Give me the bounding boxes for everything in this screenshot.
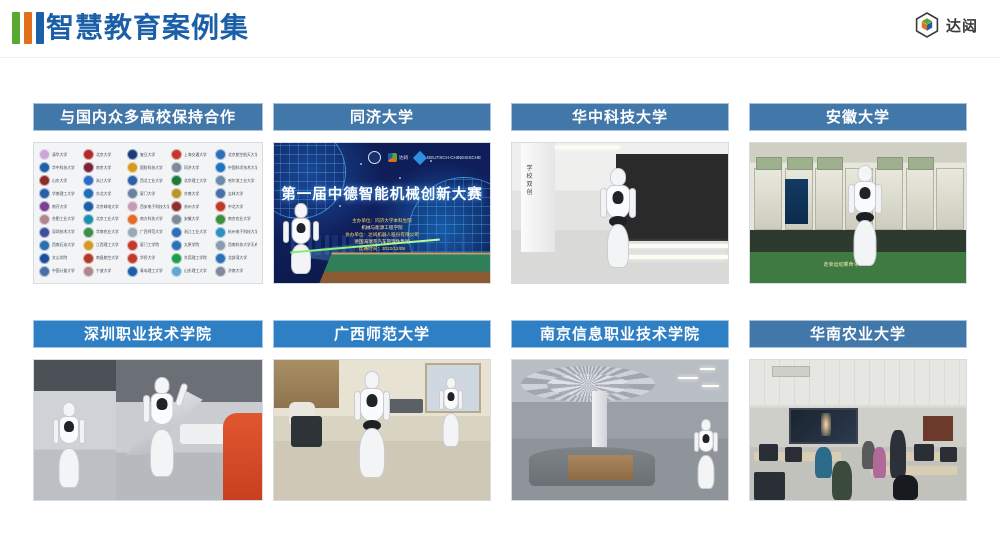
competition-poster: 达闼 DEUTSCH-CHINESISCHE 第一届中德智能机械创新大赛 主办单… <box>274 143 490 283</box>
university-logo-wall: 清华大学北京大学复旦大学上海交通大学北京航空航天大学华中科技大学南京大学国防科技… <box>34 143 262 283</box>
university-seal-icon <box>171 162 182 173</box>
accent-bar-blue <box>36 12 44 44</box>
tile-label: 与国内众多高校保持合作 <box>33 103 263 131</box>
university-seal-icon <box>127 266 138 277</box>
university-name: 南开大学 <box>52 204 67 210</box>
university-name: 华侨大学 <box>140 255 155 261</box>
university-logo-item: 国防科技大学 <box>127 162 169 174</box>
university-seal-icon <box>171 149 182 160</box>
university-name: 南方科技大学 <box>140 217 163 223</box>
university-logo-item: 广西师范大学 <box>127 226 169 238</box>
ceiling-light <box>555 146 620 149</box>
tile-label: 广西师范大学 <box>273 320 491 348</box>
university-logo-item: 西北工业大学 <box>127 175 169 187</box>
case-tile-nanjing-vocational-college[interactable]: 南京信息职业技术学院 <box>511 320 729 501</box>
computer-monitor <box>940 447 957 462</box>
storage-box <box>787 157 813 170</box>
computer-chair <box>754 472 784 500</box>
tile-media-classroom-robots-photo <box>273 359 491 501</box>
university-logo-item: 北京工业大学 <box>83 213 125 225</box>
university-name: 华中科技大学 <box>52 165 75 171</box>
student-figure <box>832 461 851 500</box>
case-tile-partner-universities[interactable]: 与国内众多高校保持合作 清华大学北京大学复旦大学上海交通大学北京航空航天大学华中… <box>33 103 263 284</box>
university-logo-item: 西安电子科技大学 <box>127 201 169 213</box>
university-logo-item: 厦门大学 <box>127 188 169 200</box>
corridor-scene: 学校双创 <box>512 143 728 283</box>
university-name: 华南农业大学 <box>96 229 119 235</box>
university-name: 北京理工大学 <box>184 178 207 184</box>
door <box>923 416 953 441</box>
university-logo-item: 深圳技术大学 <box>39 226 81 238</box>
university-seal-icon <box>83 240 94 251</box>
visitor-figure <box>223 413 262 500</box>
university-logo-item: 南京农业大学 <box>215 213 257 225</box>
university-logo-item: 中国科学技术大学 <box>215 162 257 174</box>
case-tile-south-china-agricultural-university[interactable]: 华南农业大学 <box>749 320 967 501</box>
university-name: 东南大学 <box>184 191 199 197</box>
robot-figure <box>52 402 86 490</box>
university-logo-item: 清华大学 <box>39 149 81 161</box>
university-logo-item: 复旦大学 <box>127 149 169 161</box>
tile-media-lab-cabinets-robot-photo: 走幸运动乘命令 <box>749 142 967 284</box>
university-logo-item: 青岛理工大学 <box>127 265 169 277</box>
university-seal-icon <box>171 240 182 251</box>
university-logo-item: 合肥工业大学 <box>39 213 81 225</box>
university-name: 南京农业大学 <box>228 217 251 223</box>
tile-label: 南京信息职业技术学院 <box>511 320 729 348</box>
university-logo-item: 杭州电子科技大学 <box>215 226 257 238</box>
university-name: 哈尔滨工业大学 <box>228 178 255 184</box>
university-seal-icon <box>83 253 94 264</box>
university-seal-icon <box>171 201 182 212</box>
university-seal-icon <box>127 149 138 160</box>
corridor-pillar <box>521 143 556 252</box>
storage-box <box>756 157 782 170</box>
university-name: 东莞理工学院 <box>184 255 207 261</box>
cloudminds-cube-icon: 达闼 <box>388 153 408 162</box>
hall-column <box>592 391 607 455</box>
large-display-screen <box>789 408 858 444</box>
university-logo-item: 济南大学 <box>215 265 257 277</box>
university-name: 江西理工大学 <box>96 242 119 248</box>
university-seal-icon <box>39 175 50 186</box>
university-logo-item: 中北大学 <box>215 201 257 213</box>
tile-media-competition-poster: 达闼 DEUTSCH-CHINESISCHE 第一届中德智能机械创新大赛 主办单… <box>273 142 491 284</box>
university-seal-icon <box>39 149 50 160</box>
storage-box <box>817 157 843 170</box>
university-logo-item: 江西理工大学 <box>83 239 125 251</box>
university-seal-icon <box>39 201 50 212</box>
university-name: 北京邮电大学 <box>96 204 119 210</box>
university-name: 厦门大学 <box>140 191 155 197</box>
university-logo-item: 山东理工大学 <box>171 265 213 277</box>
university-seal-icon <box>171 227 182 238</box>
university-name: 清华大学 <box>52 152 67 158</box>
lab-cabinet <box>906 168 934 230</box>
robot-figure <box>845 165 885 269</box>
university-logo-item: 华中科技大学 <box>39 162 81 174</box>
university-seal-icon <box>127 240 138 251</box>
university-name: 济南大学 <box>228 268 243 274</box>
lab-cabinet <box>936 168 964 230</box>
university-logo-item: 东北大学 <box>83 188 125 200</box>
university-seal-icon <box>171 253 182 264</box>
university-name: 西安电子科技大学 <box>140 204 169 210</box>
poster-brand-name: 达闼 <box>399 155 408 161</box>
child-figure <box>873 447 886 478</box>
poster-title: 第一届中德智能机械创新大赛 <box>274 183 490 204</box>
university-seal-icon <box>215 214 226 225</box>
university-logo-item: 文山学院 <box>39 252 81 264</box>
brand-name: 达闼 <box>946 15 978 36</box>
university-name: 太原学院 <box>184 242 199 248</box>
university-name: 北部湾大学 <box>228 255 247 261</box>
wall-poster <box>785 179 809 224</box>
university-name: 东北大学 <box>96 191 111 197</box>
university-seal-icon <box>39 162 50 173</box>
accent-bar-orange <box>24 12 32 44</box>
classroom-scene <box>274 360 490 500</box>
university-seal-icon <box>39 214 50 225</box>
university-seal-icon <box>215 201 226 212</box>
university-name: 浙江工业大学 <box>184 229 207 235</box>
tile-media-atrium-hall-robot-photo <box>511 359 729 501</box>
case-tile-tongji-university[interactable]: 同济大学 达闼 DEUTSCH-CHINE <box>273 103 491 284</box>
university-seal-icon <box>215 253 226 264</box>
university-logo-item: 同济大学 <box>171 162 213 174</box>
university-seal-icon <box>215 175 226 186</box>
poster-sponsor-logos: 达闼 DEUTSCH-CHINESISCHE <box>368 151 481 164</box>
university-name: 上海交通大学 <box>184 152 207 158</box>
star-icon <box>360 163 362 165</box>
university-name: 南京大学 <box>96 165 111 171</box>
lab-scene: 走幸运动乘命令 <box>750 143 966 283</box>
university-logo-item: 南方科技大学 <box>127 213 169 225</box>
poster-partner-caption: DEUTSCH-CHINESISCHE <box>427 155 481 161</box>
university-seal-icon <box>83 175 94 186</box>
university-seal-icon <box>39 253 50 264</box>
university-logo-item: 安徽大学 <box>171 213 213 225</box>
university-name: 复旦大学 <box>140 152 155 158</box>
university-name: 中国科学技术大学 <box>228 165 257 171</box>
university-name: 浙江大学 <box>96 178 111 184</box>
computer-monitor <box>759 444 778 461</box>
lab-cabinet <box>754 168 782 230</box>
university-logo-item: 东南大学 <box>171 188 213 200</box>
showroom-scene <box>34 360 262 500</box>
university-seal-icon <box>127 175 138 186</box>
university-seal-icon <box>83 227 94 238</box>
university-seal-icon <box>215 162 226 173</box>
university-name: 同济大学 <box>184 165 199 171</box>
university-logo-item: 浙江工业大学 <box>171 226 213 238</box>
university-logo-item: 华侨大学 <box>127 252 169 264</box>
university-logo-item: 华南农业大学 <box>83 226 125 238</box>
star-icon <box>399 177 401 179</box>
tile-label: 华中科技大学 <box>511 103 729 131</box>
student-figure <box>815 447 832 478</box>
university-seal-icon <box>171 266 182 277</box>
university-logo-item: 南京大学 <box>83 162 125 174</box>
university-name: 北京航空航天大学 <box>228 152 257 158</box>
university-logo-item: 山东大学 <box>39 175 81 187</box>
university-name: 西南石油大学 <box>52 242 75 248</box>
university-seal-icon <box>83 214 94 225</box>
university-seal-icon <box>127 227 138 238</box>
brand-logo: 达闼 <box>915 12 978 38</box>
university-seal-icon <box>39 188 50 199</box>
page-title: 智慧教育案例集 <box>46 8 249 48</box>
university-seal-icon <box>215 188 226 199</box>
university-name: 合肥工业大学 <box>52 217 75 223</box>
university-name: 吉林大学 <box>228 191 243 197</box>
university-name: 文山学院 <box>52 255 67 261</box>
university-logo-item: 南开大学 <box>39 201 81 213</box>
university-logo-item: 宁波大学 <box>83 265 125 277</box>
student-figure <box>893 475 919 500</box>
university-logo-item: 东莞理工学院 <box>171 252 213 264</box>
display-table <box>180 424 226 444</box>
university-name: 华南理工大学 <box>52 191 75 197</box>
accent-bar-green <box>12 12 20 44</box>
case-grid: 与国内众多高校保持合作 清华大学北京大学复旦大学上海交通大学北京航空航天大学华中… <box>0 57 1000 538</box>
university-logo-item: 南昌航空大学 <box>83 252 125 264</box>
ceiling-light <box>702 385 719 387</box>
robot-figure <box>598 168 638 268</box>
computer-monitor <box>785 447 802 462</box>
university-logo-item: 北部湾大学 <box>215 252 257 264</box>
billiard-table-graphic <box>319 253 490 283</box>
university-seal-icon <box>171 214 182 225</box>
university-seal-icon <box>83 188 94 199</box>
university-logo-item: 北京大学 <box>83 149 125 161</box>
university-seal-icon <box>83 201 94 212</box>
accent-bars <box>12 12 44 44</box>
university-name: 深圳技术大学 <box>52 229 75 235</box>
university-seal-icon <box>83 162 94 173</box>
teacher-figure <box>890 430 905 478</box>
ceiling-light <box>678 377 697 379</box>
university-logo-item: 北京理工大学 <box>171 175 213 187</box>
star-icon <box>339 205 341 207</box>
tile-media-corridor-robot-photo: 学校双创 <box>511 142 729 284</box>
university-logo-item: 哈尔滨工业大学 <box>215 175 257 187</box>
atrium-hall-scene <box>512 360 728 500</box>
case-tile-huazhong-university[interactable]: 华中科技大学 学校双创 <box>511 103 729 284</box>
university-seal-icon <box>171 175 182 186</box>
university-name: 苏州大学 <box>184 204 199 210</box>
tile-media-university-logo-wall: 清华大学北京大学复旦大学上海交通大学北京航空航天大学华中科技大学南京大学国防科技… <box>33 142 263 284</box>
university-logo-item: 华南理工大学 <box>39 188 81 200</box>
bookshelf <box>274 360 339 408</box>
tile-label: 安徽大学 <box>749 103 967 131</box>
university-logo-item: 北京邮电大学 <box>83 201 125 213</box>
university-logo-item: 上海交通大学 <box>171 149 213 161</box>
university-seal-icon <box>215 266 226 277</box>
robot-figure <box>352 371 392 481</box>
university-seal-icon <box>127 162 138 173</box>
robot-figure <box>143 377 181 481</box>
case-tile-shenzhen-polytechnic[interactable]: 深圳职业技术学院 <box>33 320 263 501</box>
university-seal-icon <box>171 188 182 199</box>
tile-media-showroom-robots-photo <box>33 359 263 501</box>
university-logo-item: 厦门工学院 <box>127 239 169 251</box>
university-seal-icon <box>127 188 138 199</box>
university-seal-icon <box>215 227 226 238</box>
university-name: 宁波大学 <box>96 268 111 274</box>
university-name: 厦门工学院 <box>140 242 159 248</box>
university-logo-item: 苏州大学 <box>171 201 213 213</box>
wood-counter <box>568 455 633 480</box>
university-name: 青岛理工大学 <box>140 268 163 274</box>
university-seal-icon <box>215 240 226 251</box>
vertical-sign-text: 学校双创 <box>525 165 534 197</box>
university-name: 山东大学 <box>52 178 67 184</box>
university-name: 杭州电子科技大学 <box>228 229 257 235</box>
university-name: 中北大学 <box>228 204 243 210</box>
university-seal-icon <box>39 227 50 238</box>
university-seal-icon <box>83 149 94 160</box>
tile-label: 华南农业大学 <box>749 320 967 348</box>
tongji-seal-icon <box>368 151 381 164</box>
university-seal-icon <box>83 266 94 277</box>
university-name: 北京大学 <box>96 152 111 158</box>
robot-figure <box>286 203 316 277</box>
robot-figure <box>438 377 464 449</box>
university-seal-icon <box>215 149 226 160</box>
university-name: 安徽大学 <box>184 217 199 223</box>
partner-diamond-icon: DEUTSCH-CHINESISCHE <box>415 153 481 163</box>
university-name: 南昌航空大学 <box>96 255 119 261</box>
tile-label: 深圳职业技术学院 <box>33 320 263 348</box>
university-seal-icon <box>39 240 50 251</box>
university-seal-icon <box>127 253 138 264</box>
robot-figure <box>693 419 719 491</box>
ceiling-light <box>700 368 715 370</box>
computer-monitor <box>914 444 933 461</box>
university-logo-item: 西南石油大学 <box>39 239 81 251</box>
university-logo-item: 太原学院 <box>171 239 213 251</box>
office-chair <box>291 416 321 447</box>
computer-classroom-scene <box>750 360 966 500</box>
university-seal-icon <box>39 266 50 277</box>
university-logo-item: 浙江大学 <box>83 175 125 187</box>
university-name: 山东理工大学 <box>184 268 207 274</box>
university-name: 广西师范大学 <box>140 229 163 235</box>
tile-label: 同济大学 <box>273 103 491 131</box>
photo-caption: 走幸运动乘命令 <box>823 261 858 268</box>
university-name: 国防科技大学 <box>140 165 163 171</box>
storage-box <box>908 157 934 170</box>
air-conditioner <box>772 366 811 377</box>
case-tile-anhui-university[interactable]: 安徽大学 <box>749 103 967 284</box>
university-name: 西南科技大学天府学院 <box>228 242 257 248</box>
university-logo-item: 吉林大学 <box>215 188 257 200</box>
university-name: 中国计量大学 <box>52 268 75 274</box>
university-seal-icon <box>127 214 138 225</box>
university-name: 西北工业大学 <box>140 178 163 184</box>
university-logo-item: 中国计量大学 <box>39 265 81 277</box>
tile-media-computer-classroom-photo <box>749 359 967 501</box>
university-name: 北京工业大学 <box>96 217 119 223</box>
university-seal-icon <box>127 201 138 212</box>
case-tile-guangxi-normal-university[interactable]: 广西师范大学 <box>273 320 491 501</box>
university-logo-item: 北京航空航天大学 <box>215 149 257 161</box>
hexagon-cube-logo-icon <box>915 12 939 38</box>
lab-cabinet <box>815 168 843 230</box>
university-logo-item: 西南科技大学天府学院 <box>215 239 257 251</box>
page-header: 智慧教育案例集 达闼 <box>0 0 1000 58</box>
